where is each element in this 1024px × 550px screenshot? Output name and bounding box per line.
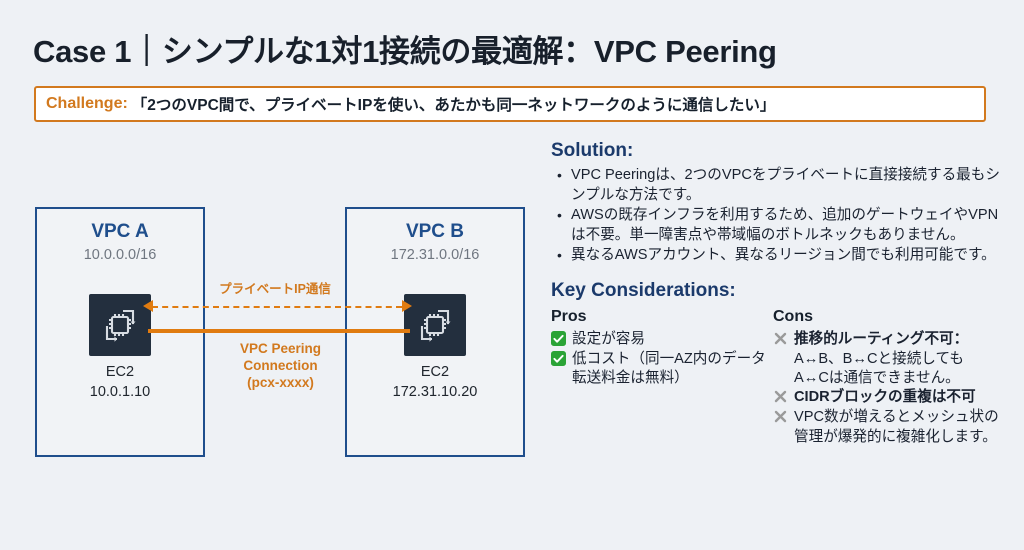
list-item: AWSの既存インフラを利用するため、追加のゲートウェイやVPNは不要。単一障害点… bbox=[569, 206, 1011, 245]
vpc-peering-diagram: VPC A 10.0.0.0/16 EC2 10.0.1.10 VPC B 17… bbox=[0, 150, 540, 480]
vpc-b-title: VPC B bbox=[347, 221, 523, 243]
vpc-b-instance-name: EC2 bbox=[347, 364, 523, 380]
key-considerations-heading: Key Considerations: bbox=[551, 280, 1011, 302]
cons-item-text: VPC数が増えるとメッシュ状の bbox=[794, 408, 1011, 427]
cons-item-sub: A↔B、B↔Cと接続しても bbox=[773, 350, 1011, 369]
cons-column: Cons 推移的ルーティング不可： A↔B、B↔Cと接続しても A↔Cは通信でき… bbox=[773, 308, 1011, 447]
check-mark-icon bbox=[551, 350, 570, 388]
page-title: Case 1｜シンプルな1対1接続の最適解：VPC Peering bbox=[33, 26, 777, 71]
cross-mark-icon bbox=[773, 408, 792, 427]
solution-heading: Solution: bbox=[551, 140, 1011, 162]
peering-connection-line bbox=[148, 329, 410, 333]
ec2-icon bbox=[404, 294, 466, 356]
list-item: CIDRブロックの重複は不可 bbox=[773, 388, 1011, 407]
vpc-b-instance-ip: 172.31.10.20 bbox=[347, 384, 523, 400]
vpc-a-instance-ip: 10.0.1.10 bbox=[37, 384, 203, 400]
pros-column: Pros 設定が容易 低コスト（同一AZ内のデータ転送料金は無料） bbox=[551, 308, 773, 447]
peering-label-line2: Connection bbox=[198, 357, 363, 374]
challenge-label: Challenge: bbox=[46, 95, 128, 113]
peering-label-line3: (pcx-xxxx) bbox=[198, 374, 363, 391]
dashed-connection-line bbox=[152, 306, 402, 308]
peering-connection-label: VPC Peering Connection (pcx-xxxx) bbox=[198, 340, 363, 391]
list-item: VPC数が増えるとメッシュ状の bbox=[773, 408, 1011, 427]
check-mark-icon bbox=[551, 330, 570, 349]
cons-item-sub: 管理が爆発的に複雑化します。 bbox=[773, 428, 1011, 447]
cons-item-lead: 推移的ルーティング不可： bbox=[794, 330, 1011, 349]
pros-item-text: 低コスト（同一AZ内のデータ転送料金は無料） bbox=[572, 350, 773, 388]
key-considerations-section: Key Considerations: Pros 設定が容易 bbox=[551, 280, 1011, 447]
ec2-icon bbox=[89, 294, 151, 356]
peering-label-line1: VPC Peering bbox=[198, 340, 363, 357]
list-item: 低コスト（同一AZ内のデータ転送料金は無料） bbox=[551, 350, 773, 388]
right-column: Solution: VPC Peeringは、2つのVPCをプライベートに直接接… bbox=[551, 140, 1011, 447]
private-ip-traffic-label: プライベートIP通信 bbox=[200, 278, 350, 297]
cons-item-sub: A↔Cは通信できません。 bbox=[773, 369, 1011, 388]
slide-root: Case 1｜シンプルな1対1接続の最適解：VPC Peering Challe… bbox=[0, 0, 1024, 550]
challenge-text: 「2つのVPC間で、プライベートIPを使い、あたかも同一ネットワークのように通信… bbox=[132, 93, 776, 115]
vpc-a-title: VPC A bbox=[37, 221, 203, 243]
cross-mark-icon bbox=[773, 330, 792, 349]
challenge-banner: Challenge: 「2つのVPC間で、プライベートIPを使い、あたかも同一ネ… bbox=[34, 86, 986, 122]
pros-item-text: 設定が容易 bbox=[572, 330, 773, 349]
list-item: 推移的ルーティング不可： bbox=[773, 330, 1011, 349]
list-item: VPC Peeringは、2つのVPCをプライベートに直接接続する最もシンプルな… bbox=[569, 166, 1011, 205]
list-item: 設定が容易 bbox=[551, 330, 773, 349]
cons-item-lead: CIDRブロックの重複は不可 bbox=[794, 388, 1011, 407]
arrow-right-icon bbox=[402, 300, 412, 312]
cons-heading: Cons bbox=[773, 308, 1011, 326]
vpc-a-instance-name: EC2 bbox=[37, 364, 203, 380]
vpc-b-cidr: 172.31.0.0/16 bbox=[347, 247, 523, 263]
solution-bullet-list: VPC Peeringは、2つのVPCをプライベートに直接接続する最もシンプルな… bbox=[551, 166, 1011, 266]
cross-mark-icon bbox=[773, 388, 792, 407]
pros-cons-columns: Pros 設定が容易 低コスト（同一AZ内のデータ転送料金は無料） bbox=[551, 308, 1011, 447]
pros-heading: Pros bbox=[551, 308, 773, 326]
vpc-a-cidr: 10.0.0.0/16 bbox=[37, 247, 203, 263]
list-item: 異なるAWSアカウント、異なるリージョン間でも利用可能です。 bbox=[569, 246, 1011, 266]
